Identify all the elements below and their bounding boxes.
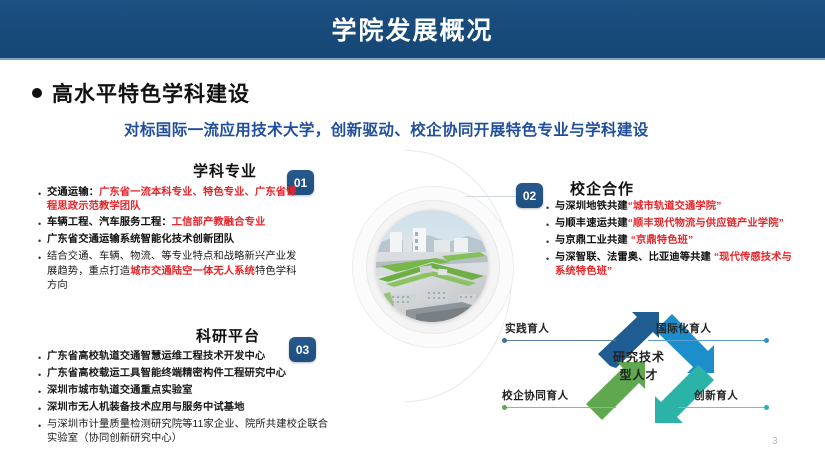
main-heading-row: 高水平特色学科建设 bbox=[32, 78, 250, 108]
list-item: • 与深智联、法雷奥、比亚迪等共建 “现代传感技术与系统特色班” bbox=[546, 251, 798, 279]
list-item: • 车辆工程、汽车服务工程：工信部产教融合专业 bbox=[38, 216, 306, 231]
item-label: 深圳市无人机装备技术应用与服务中试基地 bbox=[47, 401, 245, 415]
list-bullet-icon: • bbox=[38, 384, 47, 399]
list-bullet-icon: • bbox=[38, 418, 47, 433]
cycle-label-practice: 实践育人 bbox=[505, 321, 549, 336]
list-bullet-icon: • bbox=[38, 250, 47, 265]
item-highlight: “顺丰现代物流与供应链产业学院” bbox=[628, 218, 784, 229]
cycle-leader-line-innovation bbox=[678, 407, 768, 408]
list-bullet-icon: • bbox=[38, 367, 47, 382]
item-label: 深圳市城市轨道交通重点实验室 bbox=[47, 384, 193, 398]
list-item: • 与京鼎工业共建 “京鼎特色班” bbox=[546, 234, 798, 249]
cycle-label-innovation: 创新育人 bbox=[694, 388, 738, 403]
list-bullet-icon: • bbox=[546, 217, 555, 232]
item-label: 与深智联、法雷奥、比亚迪等共建 bbox=[555, 252, 714, 263]
section-title-discipline: 学科专业 bbox=[193, 160, 257, 181]
list-item: • 与顺丰速运共建“顺丰现代物流与供应链产业学院” bbox=[546, 217, 798, 232]
platform-list: • 广东省高校轨道交通智慧运维工程技术开发中心 • 广东省高校载运工具智能终端精… bbox=[38, 350, 338, 448]
list-bullet-icon: • bbox=[546, 200, 555, 215]
campus-aerial-photo bbox=[376, 210, 488, 322]
item-highlight: “城市轨道交通学院” bbox=[628, 201, 722, 212]
list-item: • 与深圳市计量质量检测研究院等11家企业、院所共建校企联合实验室（协同创新研究… bbox=[38, 418, 338, 446]
list-bullet-icon: • bbox=[38, 216, 47, 231]
list-item: • 结合交通、车辆、物流、等专业特点和战略新兴产业发展趋势，重点打造城市交通陆空… bbox=[38, 250, 306, 293]
section-title-platform: 科研平台 bbox=[196, 325, 260, 346]
cycle-center-line2: 型人才 bbox=[593, 366, 685, 384]
cycle-leader-line-international bbox=[648, 340, 768, 341]
item-highlight: 工信部产教融合专业 bbox=[172, 217, 266, 228]
item-highlight: “京鼎特色班” bbox=[631, 235, 693, 246]
list-bullet-icon: • bbox=[546, 234, 555, 249]
list-bullet-icon: • bbox=[38, 186, 47, 201]
cycle-dot-practice bbox=[502, 338, 507, 343]
list-item: • 广东省交通运输系统智能化技术创新团队 bbox=[38, 233, 306, 248]
cycle-center-label: 研究技术 型人才 bbox=[593, 348, 685, 384]
connector-line-02 bbox=[466, 196, 518, 197]
list-bullet-icon: • bbox=[38, 401, 47, 416]
cycle-dot-innovation bbox=[764, 405, 769, 410]
cycle-dot-international bbox=[764, 338, 769, 343]
cycle-leader-line-school-enterprise bbox=[504, 407, 616, 408]
section-title-cooperation: 校企合作 bbox=[570, 178, 634, 199]
list-item: • 深圳市无人机装备技术应用与服务中试基地 bbox=[38, 401, 338, 416]
list-item: • 深圳市城市轨道交通重点实验室 bbox=[38, 384, 338, 399]
list-item: • 广东省高校轨道交通智慧运维工程技术开发中心 bbox=[38, 350, 338, 365]
cycle-leader-line-practice bbox=[504, 340, 616, 341]
item-label: 交通运输： bbox=[47, 187, 99, 198]
banner-underline bbox=[0, 58, 825, 60]
campus-photo-group bbox=[352, 186, 512, 346]
list-item: • 广东省高校载运工具智能终端精密构件工程研究中心 bbox=[38, 367, 338, 382]
cycle-center-line1: 研究技术 bbox=[593, 348, 685, 366]
cooperation-list: • 与深圳地铁共建“城市轨道交通学院” • 与顺丰速运共建“顺丰现代物流与供应链… bbox=[546, 200, 798, 281]
item-label: 与顺丰速运共建 bbox=[555, 218, 628, 229]
cycle-label-school-enterprise: 校企协同育人 bbox=[502, 388, 569, 403]
item-label: 与深圳市计量质量检测研究院等11家企业、院所共建校企联合实验室（协同创新研究中心… bbox=[47, 418, 338, 446]
page-title: 学院发展概况 bbox=[0, 0, 825, 58]
item-label: 车辆工程、汽车服务工程： bbox=[47, 217, 172, 228]
list-bullet-icon: • bbox=[38, 233, 47, 248]
talent-cycle-diagram: 研究技术 型人才 实践育人 国际化育人 校企协同育人 创新育人 bbox=[498, 312, 818, 430]
item-highlight: 城市交通陆空一体无人系统 bbox=[130, 266, 255, 277]
list-item: • 交通运输：广东省一流本科专业、特色专业、广东省课程思政示范教学团队 bbox=[38, 186, 306, 214]
item-label: 与京鼎工业共建 bbox=[555, 235, 631, 246]
subtitle: 对标国际一流应用技术大学，创新驱动、校企协同开展特色专业与学科建设 bbox=[124, 118, 744, 140]
main-heading: 高水平特色学科建设 bbox=[52, 78, 250, 108]
badge-02: 02 bbox=[516, 183, 543, 208]
item-label: 广东省交通运输系统智能化技术创新团队 bbox=[47, 234, 234, 245]
list-bullet-icon: • bbox=[38, 350, 47, 365]
cycle-label-international: 国际化育人 bbox=[656, 321, 711, 336]
list-item: • 与深圳地铁共建“城市轨道交通学院” bbox=[546, 200, 798, 215]
page-number: 3 bbox=[772, 436, 778, 447]
bullet-dot-icon bbox=[32, 88, 42, 98]
list-bullet-icon: • bbox=[546, 251, 555, 266]
item-label: 与深圳地铁共建 bbox=[555, 201, 628, 212]
slide-canvas: 学院发展概况 高水平特色学科建设 对标国际一流应用技术大学，创新驱动、校企协同开… bbox=[0, 0, 825, 464]
discipline-list: • 交通运输：广东省一流本科专业、特色专业、广东省课程思政示范教学团队 • 车辆… bbox=[38, 186, 306, 295]
item-label: 广东省高校轨道交通智慧运维工程技术开发中心 bbox=[47, 350, 265, 364]
item-label: 广东省高校载运工具智能终端精密构件工程研究中心 bbox=[47, 367, 286, 381]
cycle-dot-school-enterprise bbox=[502, 405, 507, 410]
